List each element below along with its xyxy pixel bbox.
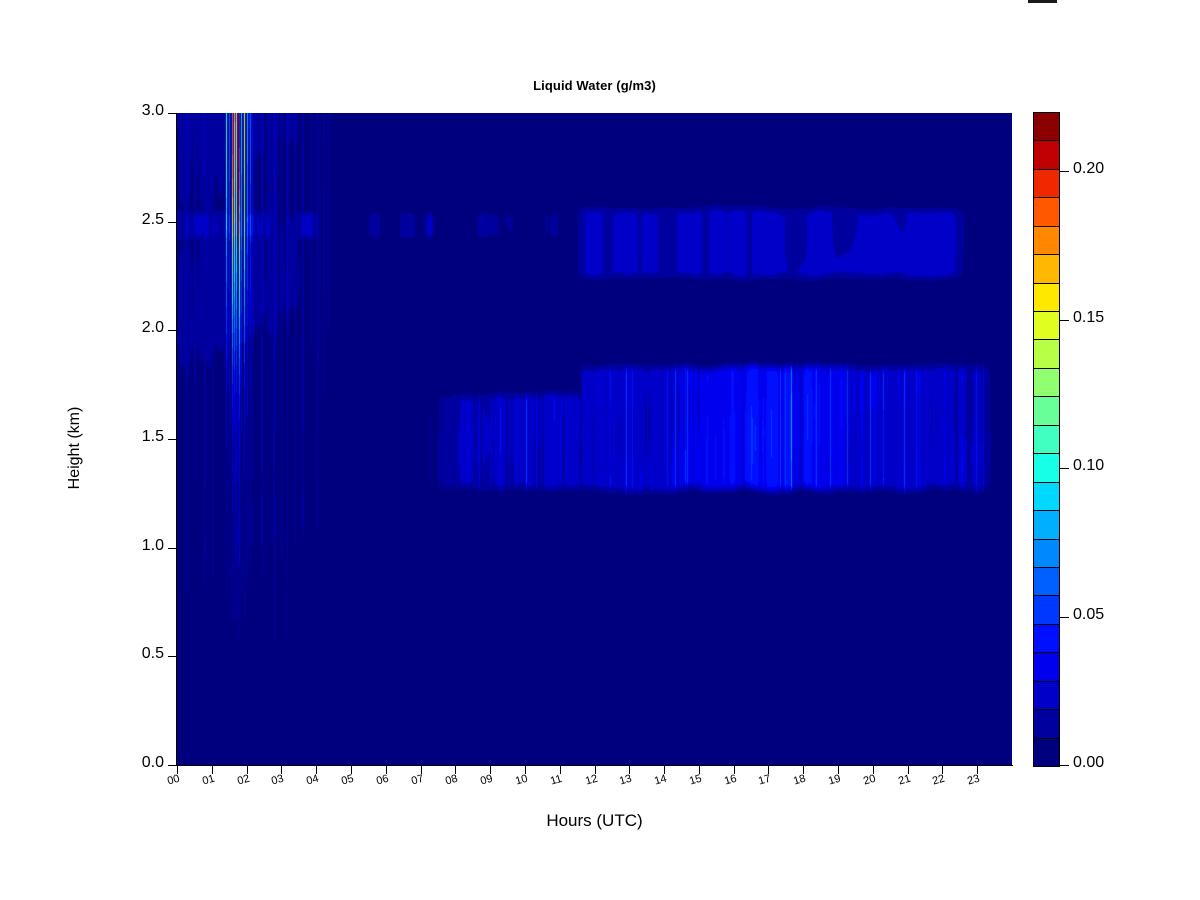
x-tick-label: 20 — [862, 773, 877, 788]
colorbar-block — [1034, 653, 1059, 681]
y-axis-line — [176, 113, 177, 766]
colorbar-tick-label: 0.05 — [1073, 606, 1104, 624]
y-tick-label: 2.5 — [142, 211, 164, 229]
colorbar-block — [1034, 141, 1059, 169]
y-tick-label: 1.0 — [142, 537, 164, 555]
colorbar-block — [1034, 227, 1059, 255]
y-tick-mark — [168, 439, 176, 440]
colorbar-block — [1034, 113, 1059, 141]
x-tick-label: 08 — [444, 773, 459, 788]
y-tick-mark — [168, 765, 176, 766]
x-tick-label: 10 — [514, 773, 529, 788]
x-tick-label: 19 — [827, 773, 842, 788]
colorbar-block — [1034, 170, 1059, 198]
y-tick-label: 2.0 — [142, 319, 164, 337]
x-tick-label: 06 — [375, 773, 390, 788]
x-tick-label: 15 — [688, 773, 703, 788]
colorbar-block — [1034, 340, 1059, 368]
x-axis-title: Hours (UTC) — [177, 811, 1012, 831]
heatmap-plot-area — [177, 113, 1012, 765]
x-tick-label: 23 — [966, 773, 981, 788]
y-tick-mark — [168, 330, 176, 331]
y-tick-label: 0.5 — [142, 645, 164, 663]
x-tick-label: 16 — [723, 773, 738, 788]
colorbar-tick-mark — [1060, 617, 1069, 618]
colorbar-block — [1034, 739, 1059, 766]
colorbar-block — [1034, 483, 1059, 511]
x-tick-label: 14 — [653, 773, 668, 788]
y-tick-mark — [168, 548, 176, 549]
colorbar-tick-label: 0.00 — [1073, 754, 1104, 772]
y-tick-label: 0.0 — [142, 754, 164, 772]
colorbar-block — [1034, 454, 1059, 482]
colorbar-block — [1034, 710, 1059, 738]
colorbar-block — [1034, 625, 1059, 653]
colorbar-block — [1034, 255, 1059, 283]
colorbar-block — [1034, 426, 1059, 454]
colorbar-block — [1034, 568, 1059, 596]
y-axis-title: Height (km) — [66, 368, 84, 528]
colorbar-block — [1034, 312, 1059, 340]
colorbar — [1033, 112, 1060, 767]
y-tick-mark — [168, 222, 176, 223]
colorbar-tick-mark — [1060, 468, 1069, 469]
y-tick-label: 1.5 — [142, 428, 164, 446]
colorbar-block — [1034, 369, 1059, 397]
top-artifact-line — [1028, 0, 1057, 3]
colorbar-tick-mark — [1060, 765, 1069, 766]
x-tick-label: 22 — [931, 773, 946, 788]
colorbar-block — [1034, 596, 1059, 624]
x-tick-label: 21 — [897, 773, 912, 788]
x-tick-label: 11 — [549, 773, 563, 788]
figure-canvas: Liquid Water (g/m3) 0.00.51.01.52.02.53.… — [0, 0, 1200, 900]
colorbar-block — [1034, 284, 1059, 312]
x-tick-label: 05 — [340, 773, 355, 788]
y-tick-mark — [168, 113, 176, 114]
x-tick-label: 00 — [166, 773, 181, 788]
x-tick-label: 09 — [479, 773, 494, 788]
colorbar-block — [1034, 511, 1059, 539]
colorbar-block — [1034, 540, 1059, 568]
colorbar-tick-mark — [1060, 171, 1069, 172]
x-tick-label: 01 — [201, 773, 216, 788]
x-tick-label: 02 — [236, 773, 251, 788]
y-tick-mark — [168, 656, 176, 657]
colorbar-block — [1034, 397, 1059, 425]
colorbar-tick-label: 0.20 — [1073, 160, 1104, 178]
x-tick-label: 18 — [792, 773, 807, 788]
x-tick-label: 03 — [270, 773, 285, 788]
x-tick-label: 12 — [584, 773, 599, 788]
x-tick-label: 17 — [757, 773, 772, 788]
y-tick-label: 3.0 — [142, 102, 164, 120]
colorbar-block — [1034, 198, 1059, 226]
colorbar-block — [1034, 682, 1059, 710]
colorbar-tick-label: 0.10 — [1073, 457, 1104, 475]
colorbar-tick-mark — [1060, 320, 1069, 321]
colorbar-tick-label: 0.15 — [1073, 309, 1104, 327]
heatmap-canvas — [177, 113, 1012, 765]
x-tick-label: 07 — [410, 773, 425, 788]
x-tick-label: 13 — [618, 773, 633, 788]
x-tick-label: 04 — [305, 773, 320, 788]
plot-title: Liquid Water (g/m3) — [177, 78, 1012, 93]
